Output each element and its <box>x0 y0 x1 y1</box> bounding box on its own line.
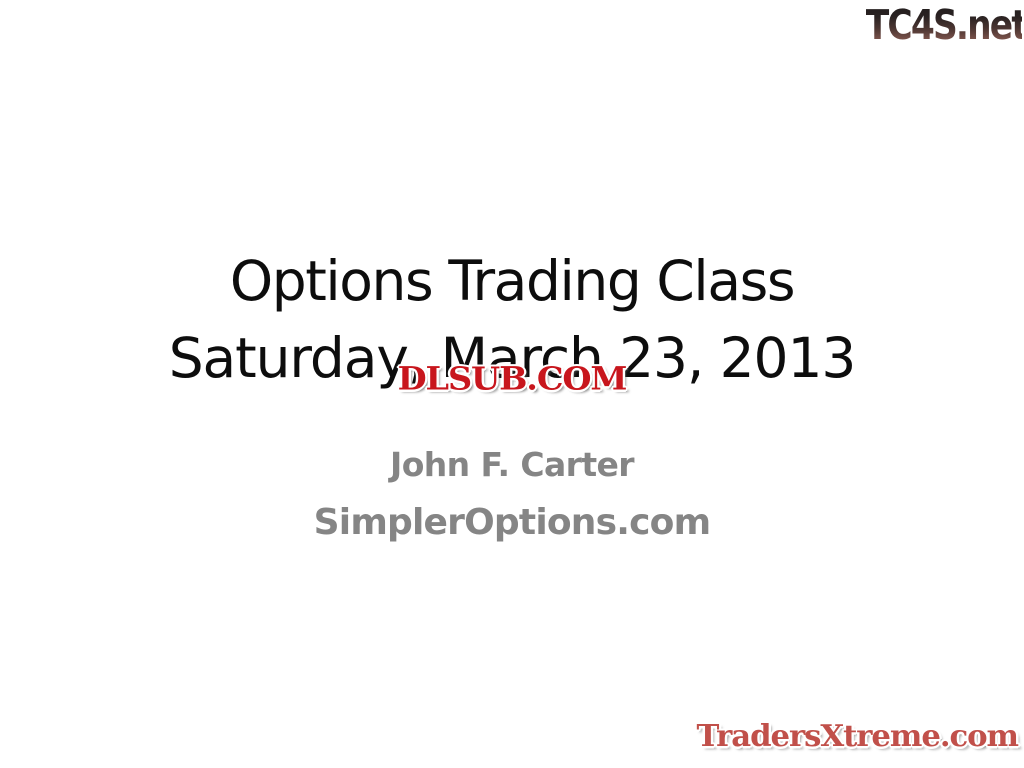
slide-subtitle-presenter-name: John F. Carter <box>0 437 1024 492</box>
tc4s-brand-logo: TC4S.net <box>836 2 1022 50</box>
tc4s-brand-logo-text: TC4S.net <box>866 2 1022 48</box>
presentation-slide: TC4S.net Options Trading Class Saturday,… <box>0 0 1024 768</box>
slide-title-line-1: Options Trading Class <box>0 243 1024 320</box>
slide-subtitle: John F. Carter SimplerOptions.com <box>0 437 1024 554</box>
slide-subtitle-website: SimplerOptions.com <box>0 492 1024 554</box>
tradersxtreme-watermark: TradersXtreme.com <box>678 716 1018 758</box>
tradersxtreme-watermark-text: TradersXtreme.com <box>692 718 1018 755</box>
dlsub-watermark-text: DLSUB.COM <box>375 361 648 398</box>
dlsub-watermark: DLSUB.COM <box>365 358 659 402</box>
